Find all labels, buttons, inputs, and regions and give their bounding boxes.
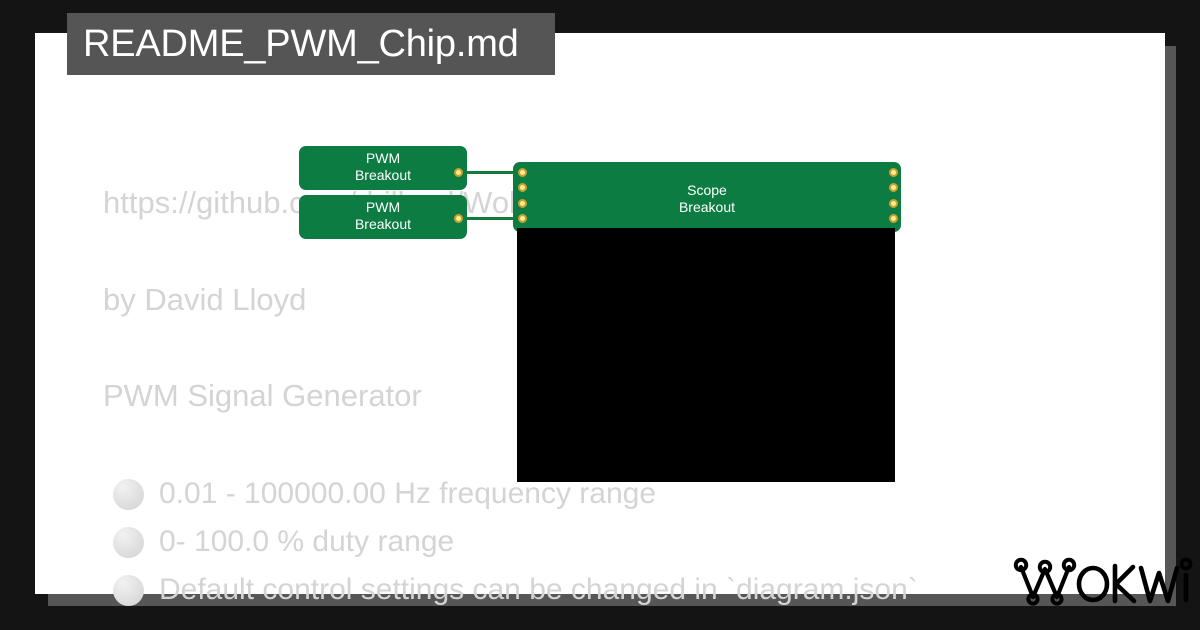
feature-list: 0.01 - 100000.00 Hz frequency range 0- 1… bbox=[113, 470, 1113, 614]
pwm-breakout-2-line2: Breakout bbox=[299, 216, 467, 233]
list-item-label: 0- 100.0 % duty range bbox=[159, 525, 454, 559]
pad-scope-left-2[interactable] bbox=[518, 183, 527, 192]
pwm-breakout-1-line1: PWM bbox=[299, 150, 467, 167]
list-item-label: 0.01 - 100000.00 Hz frequency range bbox=[159, 477, 656, 511]
scope-breakout-label: Scope Breakout bbox=[513, 182, 901, 215]
pwm-breakout-2-line1: PWM bbox=[299, 199, 467, 216]
wokwi-logo-mark bbox=[1013, 553, 1193, 611]
bullet-circle-icon bbox=[113, 479, 144, 510]
pad-pwm2-out[interactable] bbox=[454, 214, 463, 223]
scope-display-screen[interactable] bbox=[517, 228, 895, 482]
pad-scope-left-3[interactable] bbox=[518, 199, 527, 208]
pad-scope-left-1[interactable] bbox=[518, 168, 527, 177]
document-subtitle: PWM Signal Generator bbox=[103, 378, 422, 414]
pwm-breakout-board-1[interactable]: PWM Breakout bbox=[299, 146, 467, 190]
page-title: README_PWM_Chip.md bbox=[83, 23, 519, 66]
list-item: 0- 100.0 % duty range bbox=[113, 518, 1113, 566]
title-banner: README_PWM_Chip.md bbox=[67, 13, 555, 75]
pad-scope-right-4[interactable] bbox=[889, 214, 898, 223]
author-line: by David Lloyd bbox=[103, 282, 306, 318]
scope-breakout-line1: Scope bbox=[513, 182, 901, 199]
wokwi-logo bbox=[1013, 553, 1193, 611]
pwm-breakout-2-label: PWM Breakout bbox=[299, 199, 467, 232]
pwm-breakout-1-label: PWM Breakout bbox=[299, 150, 467, 183]
list-item-label: Default control settings can be changed … bbox=[159, 573, 918, 607]
bullet-circle-icon bbox=[113, 527, 144, 558]
pwm-breakout-1-line2: Breakout bbox=[299, 167, 467, 184]
pwm-breakout-board-2[interactable]: PWM Breakout bbox=[299, 195, 467, 239]
pad-scope-left-4[interactable] bbox=[518, 214, 527, 223]
scope-breakout-board[interactable]: Scope Breakout bbox=[513, 162, 901, 232]
pad-scope-right-1[interactable] bbox=[889, 168, 898, 177]
wokwi-i-dot-icon bbox=[1182, 560, 1191, 569]
pad-scope-right-2[interactable] bbox=[889, 183, 898, 192]
pad-pwm1-out[interactable] bbox=[454, 168, 463, 177]
scope-breakout-line2: Breakout bbox=[513, 199, 901, 216]
list-item: Default control settings can be changed … bbox=[113, 566, 1113, 614]
screenshot-stage: https://github.com/drjlloyd/Wokwi-Chip-P… bbox=[0, 0, 1200, 630]
bullet-circle-icon bbox=[113, 575, 144, 606]
wokwi-node-dots bbox=[1016, 560, 1074, 604]
pad-scope-right-3[interactable] bbox=[889, 199, 898, 208]
